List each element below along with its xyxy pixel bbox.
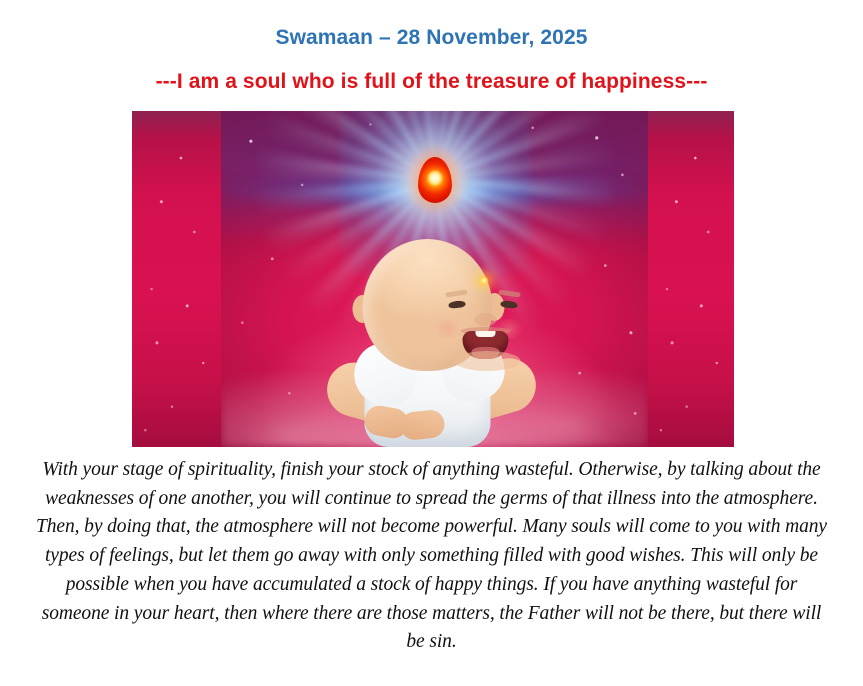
page-subtitle: ---I am a soul who is full of the treasu…: [0, 70, 863, 94]
baby-chin: [454, 351, 520, 371]
page-title: Swamaan – 28 November, 2025: [0, 26, 863, 50]
image-inner-photo: [221, 111, 648, 447]
baby-left-eye: [448, 300, 466, 309]
soul-core-glow: [427, 171, 442, 186]
baby-figure: [302, 239, 552, 447]
illustration-image: [132, 111, 734, 447]
baby-left-cheek: [432, 319, 462, 339]
body-paragraph: With your stage of spirituality, finish …: [34, 456, 829, 657]
baby-tooth: [475, 331, 495, 337]
baby-nose: [474, 313, 496, 326]
baby-left-eyebrow: [445, 289, 467, 297]
image-left-pillarbox: [132, 111, 221, 447]
tilak-icon: [479, 276, 488, 285]
baby-head: [362, 239, 492, 371]
document-page: Swamaan – 28 November, 2025 ---I am a so…: [0, 0, 863, 686]
image-right-pillarbox: [648, 111, 734, 447]
